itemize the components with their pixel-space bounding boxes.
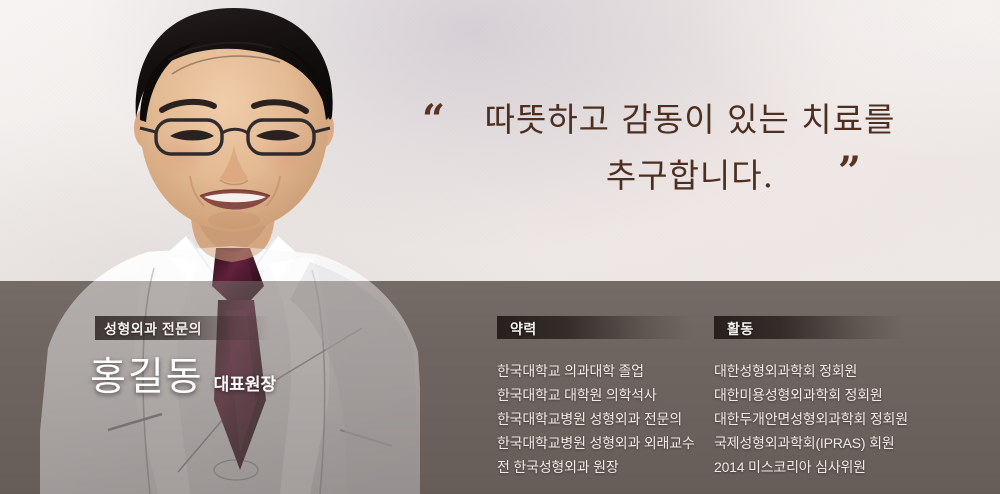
doctor-specialty-label: 성형외과 전문의 bbox=[104, 319, 202, 339]
career-heading-label: 약력 bbox=[510, 319, 537, 339]
list-item: 대한성형외과학회 정회원 bbox=[714, 359, 904, 383]
list-item: 대한미용성형외과학회 정회원 bbox=[714, 383, 904, 407]
list-item: 한국대학교병원 성형외과 외래교수 bbox=[497, 431, 692, 455]
list-item: 한국대학교 의과대학 졸업 bbox=[497, 359, 692, 383]
activity-column: 활동 대한성형외과학회 정회원 대한미용성형외과학회 정회원 대한두개안면성형외… bbox=[714, 316, 904, 479]
quote-line-1: 따뜻하고 감동이 있는 치료를 bbox=[485, 100, 896, 139]
doctor-position-title: 대표원장 bbox=[214, 370, 277, 400]
career-heading-bar: 약력 bbox=[497, 316, 692, 339]
list-item: 한국대학교 대학원 의학석사 bbox=[497, 383, 692, 407]
list-item: 한국대학교병원 성형외과 전문의 bbox=[497, 407, 692, 431]
list-item: 전 한국성형외과 원장 bbox=[497, 455, 692, 479]
list-item: 대한두개안면성형외과학회 정회원 bbox=[714, 407, 904, 431]
career-column: 약력 한국대학교 의과대학 졸업 한국대학교 대학원 의학석사 한국대학교병원 … bbox=[497, 316, 692, 479]
list-item: 국제성형외과학회(IPRAS) 회원 bbox=[714, 431, 904, 455]
activity-heading-label: 활동 bbox=[727, 319, 754, 339]
doctor-name-row: 홍길동 대표원장 bbox=[90, 356, 276, 400]
activity-heading-bar: 활동 bbox=[714, 316, 904, 339]
doctor-profile-banner: “ 따뜻하고 감동이 있는 치료를 추구합니다. ” bbox=[0, 0, 1000, 494]
quote-open-mark: “ bbox=[422, 100, 446, 140]
quote-close-mark: ” bbox=[838, 152, 862, 192]
activity-list: 대한성형외과학회 정회원 대한미용성형외과학회 정회원 대한두개안면성형외과학회… bbox=[714, 359, 904, 479]
quote-line-2: 추구합니다. bbox=[606, 156, 774, 195]
doctor-name: 홍길동 bbox=[90, 356, 204, 400]
list-item: 2014 미스코리아 심사위원 bbox=[714, 455, 904, 479]
career-list: 한국대학교 의과대학 졸업 한국대학교 대학원 의학석사 한국대학교병원 성형외… bbox=[497, 359, 692, 479]
tagline-quote: “ 따뜻하고 감동이 있는 치료를 추구합니다. ” bbox=[400, 92, 980, 204]
